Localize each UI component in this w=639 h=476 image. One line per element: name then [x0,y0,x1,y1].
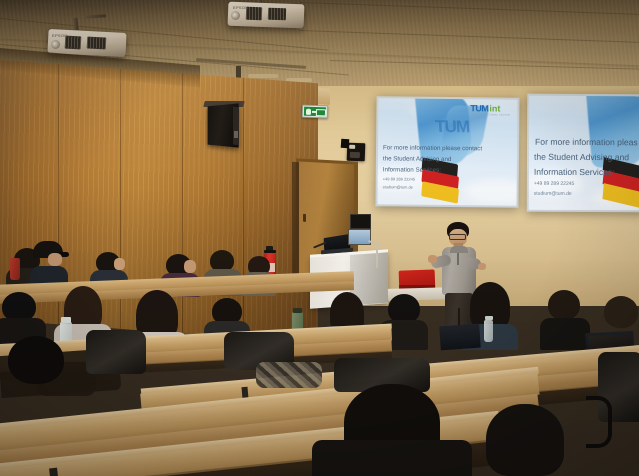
student-head [548,290,580,320]
slide-left-line3: Information Services: [383,165,441,175]
presenter-collar [450,246,468,253]
slide-left-line1: For more information please contact [383,143,482,153]
bottle-cap [485,316,493,320]
lectern-monitor-dark [350,214,371,229]
presenter-hand-right [478,263,486,270]
foreground-student-body [312,440,472,476]
student-face [48,253,62,266]
wall-mounted-control-unit[interactable] [347,143,366,162]
water-bottle [10,258,20,280]
exit-sign [302,105,328,119]
ceiling-light-strip [248,74,278,78]
projector-vent [87,37,107,50]
slide-right: For more information pleas the Student A… [529,96,639,211]
logo-subtitle-text: THE INTERNATIONAL CENTER [470,113,510,116]
presenter-glasses [449,234,466,240]
backpack-strap [586,396,612,448]
student-laptop[interactable] [439,324,481,351]
slide-right-line3: Information Services: [534,166,615,179]
projector-lens [231,11,240,20]
presenter-hand-left [428,255,437,263]
foreground-student-head [8,336,64,384]
device-panel [350,152,360,158]
tum-flag-glyph: TUM [435,117,470,137]
tum-int-logo: TUM int THE INTERNATIONAL CENTER [470,103,514,118]
exit-running-man-icon [306,108,311,114]
exit-arrow-icon [312,111,316,113]
slide-right-phone: +49 89 289 22245 [534,181,574,187]
lectern-cable [376,246,378,268]
slide-left-email: studium@tum.de [383,184,413,189]
slide-left: TUM TUM int THE INTERNATIONAL CENTER For… [377,98,517,205]
device-indicator [349,145,355,149]
speaker-connector [234,131,238,138]
backpack [86,330,146,374]
exit-door-icon [316,109,326,116]
lecture-hall-photo: EPSON EPSON [0,0,639,476]
logo-tum-text: TUM [470,103,488,113]
projection-screen-right-frame: For more information pleas the Student A… [527,94,639,213]
door-handle [303,214,306,222]
projector-brand-label: EPSON [52,33,68,38]
student-face [184,260,196,273]
student-head [604,296,638,328]
bottle-cap [293,308,302,313]
slide-left-line2: the Student Advising and [383,154,452,164]
projector-brand-label: EPSON [233,5,249,10]
slide-right-line2: the Student Advising and [534,151,629,164]
foreground-student-head [486,404,564,476]
slide-left-phone: +49 89 289 22245 [383,176,415,181]
patterned-bag [256,362,322,388]
slide-right-line1: For more information pleas [535,136,638,149]
projector-vent [268,8,286,21]
speaker-side [233,106,239,145]
lectern-monitor-lit[interactable] [348,229,371,245]
projector-right: EPSON [228,0,306,32]
wall-speaker [206,101,242,147]
student-body [540,318,590,350]
logo-int-text: int [489,103,500,113]
bottle-cap [61,317,71,323]
student-face [114,258,125,270]
slide-right-email: studium@tum.de [534,191,572,197]
water-bottle [484,320,493,342]
projection-screen-left-frame: TUM TUM int THE INTERNATIONAL CENTER For… [375,96,519,207]
device-bracket [341,139,350,149]
projector-lens [51,40,60,49]
